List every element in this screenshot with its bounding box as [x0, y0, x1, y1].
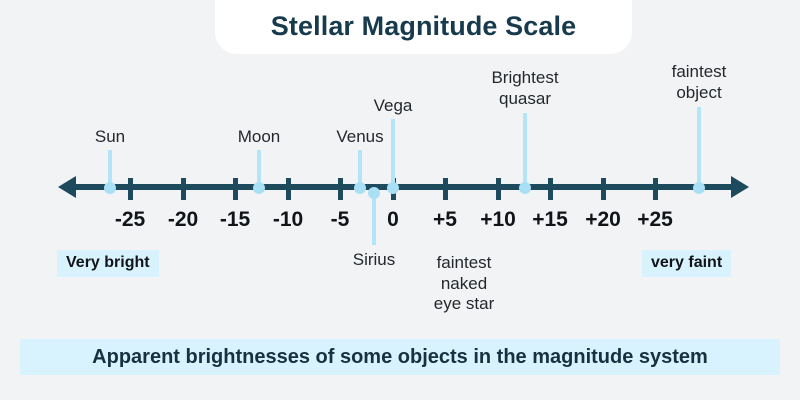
- callout-pointer-dot: [693, 182, 705, 194]
- callout-pointer-line: [372, 193, 376, 245]
- callout-pointer-dot: [387, 182, 399, 194]
- status-badge: very faint: [642, 250, 731, 277]
- axis-tick-label: -10: [273, 208, 303, 232]
- axis-tick-label: +20: [585, 208, 621, 232]
- callout-pointer-line: [523, 113, 527, 188]
- axis-tick-label: -15: [220, 208, 250, 232]
- axis-tick: [653, 178, 658, 200]
- callout-pointer-dot: [104, 182, 116, 194]
- callout-label: Venus: [336, 127, 383, 148]
- axis-tick: [286, 178, 291, 200]
- callout-pointer-dot: [519, 182, 531, 194]
- callout-label: Moon: [238, 127, 281, 148]
- magnitude-axis-line: [70, 184, 740, 190]
- axis-tick-label: +5: [433, 208, 457, 232]
- caption-bar: Apparent brightnesses of some objects in…: [20, 339, 780, 375]
- callout-pointer-line: [391, 119, 395, 188]
- callout-label: Vega: [374, 96, 413, 117]
- axis-arrow-right-icon: [731, 176, 749, 198]
- axis-tick-label: -5: [331, 208, 350, 232]
- callout-label: Sirius: [353, 250, 396, 271]
- callout-label: Brightest quasar: [491, 68, 558, 109]
- caption-text: Apparent brightnesses of some objects in…: [92, 346, 708, 369]
- callout-pointer-dot: [368, 187, 380, 199]
- callout-label: faintest naked eye star: [434, 253, 494, 315]
- axis-tick-label: +10: [480, 208, 516, 232]
- title-card: Stellar Magnitude Scale: [215, 0, 632, 54]
- axis-tick: [128, 178, 133, 200]
- callout-label: faintest object: [672, 62, 727, 103]
- callout-pointer-dot: [354, 182, 366, 194]
- callout-pointer-line: [697, 107, 701, 188]
- axis-tick-label: +15: [532, 208, 568, 232]
- axis-tick-label: -25: [115, 208, 145, 232]
- callout-pointer-dot: [253, 182, 265, 194]
- axis-tick: [181, 178, 186, 200]
- axis-tick: [443, 178, 448, 200]
- axis-tick-label: 0: [387, 208, 399, 232]
- axis-tick: [496, 178, 501, 200]
- page-title: Stellar Magnitude Scale: [271, 3, 576, 42]
- axis-tick-label: +25: [637, 208, 673, 232]
- axis-tick: [601, 178, 606, 200]
- axis-tick: [548, 178, 553, 200]
- axis-tick-label: -20: [168, 208, 198, 232]
- status-badge: Very bright: [57, 250, 159, 277]
- axis-tick: [338, 178, 343, 200]
- diagram-canvas: Stellar Magnitude Scale -25-20-15-10-50+…: [0, 0, 800, 400]
- axis-tick: [233, 178, 238, 200]
- callout-label: Sun: [95, 127, 125, 148]
